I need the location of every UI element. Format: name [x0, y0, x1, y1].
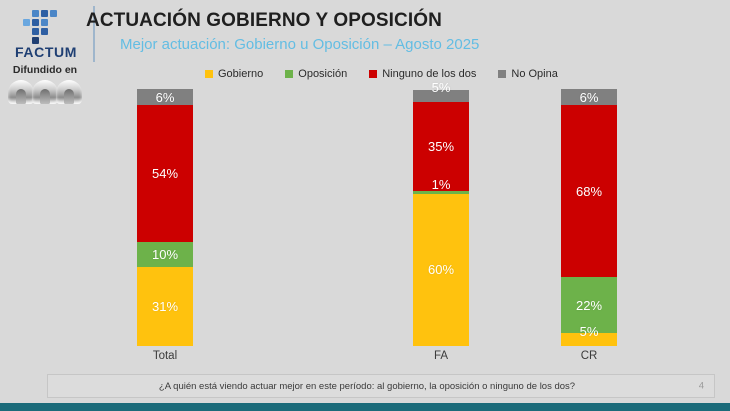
legend-label-ninguno: Ninguno de los dos: [382, 68, 476, 80]
stacked-bar-fa[interactable]: 5%35%1%60%: [413, 90, 469, 347]
page-title: ACTUACIÓN GOBIERNO Y OPOSICIÓN: [86, 10, 442, 32]
stacked-bar-total[interactable]: 6%54%10%31%: [137, 89, 193, 346]
bar-segment-ninguno-de-los-dos: 68%: [561, 105, 617, 278]
bar-segment-gobierno: 60%: [413, 194, 469, 346]
bar-segment-value: 6%: [580, 91, 599, 104]
bar-segment-no-opina: 6%: [137, 89, 193, 104]
bar-segment-value: 6%: [156, 91, 175, 104]
factum-squares-logo-icon: [22, 10, 62, 44]
legend-swatch-gobierno: [205, 70, 213, 78]
legend-swatch-no-opina: [498, 70, 506, 78]
bar-segment-oposici-n: 10%: [137, 242, 193, 267]
bar-segment-ninguno-de-los-dos: 54%: [137, 105, 193, 242]
legend-item-no-opina: No Opina: [498, 68, 557, 80]
page-number: 4: [699, 381, 704, 392]
bar-segment-value: 10%: [152, 248, 178, 261]
category-label-fa: FA: [381, 350, 501, 362]
bar-segment-value: 60%: [428, 263, 454, 276]
chart-legend: Gobierno Oposición Ninguno de los dos No…: [205, 68, 558, 80]
footer-question-box: ¿A quién está viendo actuar mejor en est…: [47, 374, 715, 398]
brand-block: FACTUM Difundido en: [0, 4, 92, 100]
legend-label-gobierno: Gobierno: [218, 68, 263, 80]
bar-segment-no-opina: 5%: [413, 90, 469, 103]
bar-segment-value: 1%: [432, 178, 451, 191]
bar-segment-value: 68%: [576, 185, 602, 198]
bar-group-cr: 6%68%22%5% CR: [561, 92, 617, 346]
category-label-total: Total: [105, 350, 225, 362]
brand-name: FACTUM: [6, 44, 86, 60]
legend-item-gobierno: Gobierno: [205, 68, 263, 80]
legend-item-oposicion: Oposición: [285, 68, 347, 80]
footer-question-text: ¿A quién está viendo actuar mejor en est…: [48, 375, 714, 397]
chart-plot-area: 6%54%10%31% Total 5%35%1%60% FA 6%68%22%…: [0, 88, 730, 346]
bar-segment-value: 35%: [428, 140, 454, 153]
legend-item-ninguno: Ninguno de los dos: [369, 68, 476, 80]
legend-label-no-opina: No Opina: [511, 68, 557, 80]
bottom-accent-bar: [0, 403, 730, 411]
bar-segment-value: 54%: [152, 167, 178, 180]
legend-swatch-oposicion: [285, 70, 293, 78]
bar-segment-no-opina: 6%: [561, 89, 617, 104]
page-subtitle: Mejor actuación: Gobierno u Oposición – …: [120, 36, 479, 53]
slide-root: FACTUM Difundido en ACTUACIÓN GOBIERNO Y…: [0, 0, 730, 411]
bar-segment-value: 5%: [580, 325, 599, 338]
stacked-bar-cr[interactable]: 6%68%22%5%: [561, 89, 617, 346]
bar-group-total: 6%54%10%31% Total: [137, 92, 193, 346]
legend-label-oposicion: Oposición: [298, 68, 347, 80]
bar-segment-value: 31%: [152, 300, 178, 313]
legend-swatch-ninguno: [369, 70, 377, 78]
bar-segment-gobierno: 31%: [137, 267, 193, 346]
bar-group-fa: 5%35%1%60% FA: [413, 92, 469, 346]
bar-segment-gobierno: 5%: [561, 333, 617, 346]
broadcast-label: Difundido en: [0, 64, 90, 76]
category-label-cr: CR: [529, 350, 649, 362]
bar-segment-value: 22%: [576, 299, 602, 312]
bar-segment-value: 5%: [432, 81, 451, 94]
